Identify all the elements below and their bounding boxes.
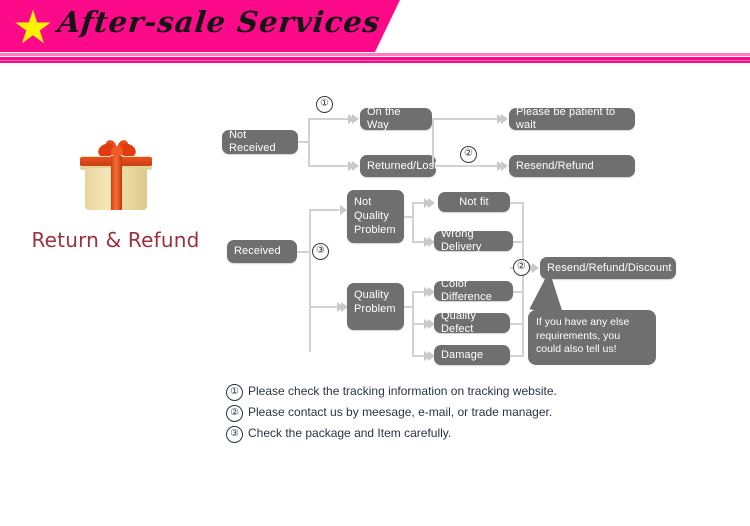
marker-three-mid: ③ xyxy=(312,243,329,260)
connector-to-not-quality xyxy=(309,209,339,211)
footer-notes: ① Please check the tracking information … xyxy=(226,381,646,444)
connector-to-on-the-way xyxy=(308,118,350,120)
node-not-fit[interactable]: Not fit xyxy=(438,192,510,212)
node-color-difference[interactable]: Color Difference xyxy=(434,281,513,301)
arrow-to-returned-lost xyxy=(352,161,359,171)
node-please-be-patient[interactable]: Please be patient to wait xyxy=(509,108,635,130)
node-wrong-delivery[interactable]: Wrong Delivery xyxy=(434,231,513,251)
connector-on-the-way-out xyxy=(432,118,500,120)
connector-returned-lost-out xyxy=(436,165,500,167)
note-text-2: Please contact us by meesage, e-mail, or… xyxy=(248,402,552,423)
arrow-to-not-fit xyxy=(428,198,435,208)
arrow-to-resend-refund xyxy=(501,161,508,171)
note-item-1: ① Please check the tracking information … xyxy=(226,381,646,402)
node-not-received[interactable]: Not Received xyxy=(222,130,298,154)
marker-one-top: ① xyxy=(316,96,333,113)
note-item-3: ③ Check the package and Item carefully. xyxy=(226,423,646,444)
arrow-to-please-be-patient xyxy=(501,114,508,124)
node-on-the-way[interactable]: On the Way xyxy=(360,108,432,130)
node-returned-lost[interactable]: Returned/Lost xyxy=(360,155,436,177)
callout-bubble: If you have any else requirements, you c… xyxy=(528,310,656,365)
node-resend-refund[interactable]: Resend/Refund xyxy=(509,155,635,177)
after-sale-services-infographic: ★ After-sale Services Return & Refund No… xyxy=(0,0,750,526)
connector-right-collector xyxy=(522,202,524,357)
arrow-to-on-the-way xyxy=(352,114,359,124)
node-quality-defect[interactable]: Quality Defect xyxy=(434,313,510,333)
node-quality-problem[interactable]: Quality Problem xyxy=(347,283,404,330)
note-text-1: Please check the tracking information on… xyxy=(248,381,557,402)
node-damage[interactable]: Damage xyxy=(434,345,510,365)
connector-not-received-split xyxy=(308,118,310,166)
marker-two-right: ② xyxy=(513,259,530,276)
note-marker-2: ② xyxy=(226,405,243,422)
connector-top-right-join xyxy=(432,118,434,166)
note-item-2: ② Please contact us by meesage, e-mail, … xyxy=(226,402,646,423)
marker-two-top: ② xyxy=(460,146,477,163)
connector-received-split xyxy=(309,209,311,352)
note-marker-3: ③ xyxy=(226,426,243,443)
node-received[interactable]: Received xyxy=(227,240,297,263)
arrow-to-not-quality-problem xyxy=(340,205,347,215)
flowchart: Not Received ① On the Way Returned/Lost … xyxy=(0,0,750,390)
note-marker-1: ① xyxy=(226,384,243,401)
node-not-quality-problem[interactable]: Not Quality Problem xyxy=(347,190,404,243)
note-text-3: Check the package and Item carefully. xyxy=(248,423,451,444)
connector-to-returned-lost xyxy=(308,165,350,167)
connector-to-quality xyxy=(309,306,339,308)
connector-not-quality-split xyxy=(412,202,414,242)
